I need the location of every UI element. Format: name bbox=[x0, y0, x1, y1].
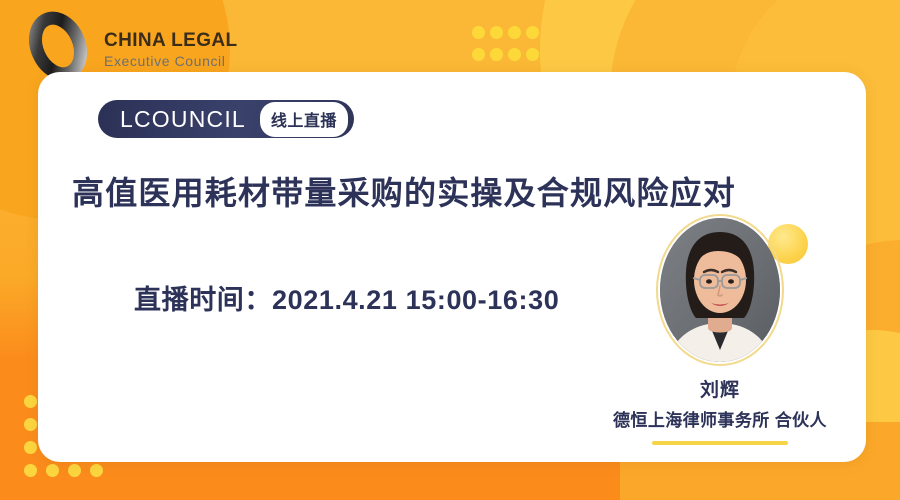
lcouncil-live-badge: LCOUNCIL 线上直播 bbox=[98, 100, 354, 138]
page-title: 高值医用耗材带量采购的实操及合规风险应对 bbox=[72, 168, 832, 214]
broadcast-time: 直播时间：2021.4.21 15:00-16:30 bbox=[134, 278, 559, 317]
badge-live-label: 线上直播 bbox=[260, 102, 348, 137]
avatar-ring bbox=[656, 214, 784, 366]
brand-title: CHINA LEGAL bbox=[104, 30, 238, 52]
speaker-name: 刘辉 bbox=[602, 375, 838, 402]
brand-subtitle: Executive Council bbox=[104, 53, 238, 69]
brand-logo: CHINA LEGAL Executive Council bbox=[22, 8, 282, 78]
speaker-block: 刘辉 德恒上海律师事务所 合伙人 bbox=[602, 214, 838, 445]
webinar-promo-banner: CHINA LEGAL Executive Council LCOUNCIL 线… bbox=[0, 0, 900, 500]
avatar bbox=[656, 214, 784, 366]
badge-brand-label: LCOUNCIL bbox=[98, 106, 260, 133]
content-card: LCOUNCIL 线上直播 高值医用耗材带量采购的实操及合规风险应对 直播时间：… bbox=[38, 72, 866, 462]
speaker-underline bbox=[652, 441, 788, 445]
dot-grid-top bbox=[472, 26, 544, 70]
brand-logo-text: CHINA LEGAL Executive Council bbox=[104, 30, 238, 69]
speaker-organization: 德恒上海律师事务所 合伙人 bbox=[602, 406, 838, 431]
